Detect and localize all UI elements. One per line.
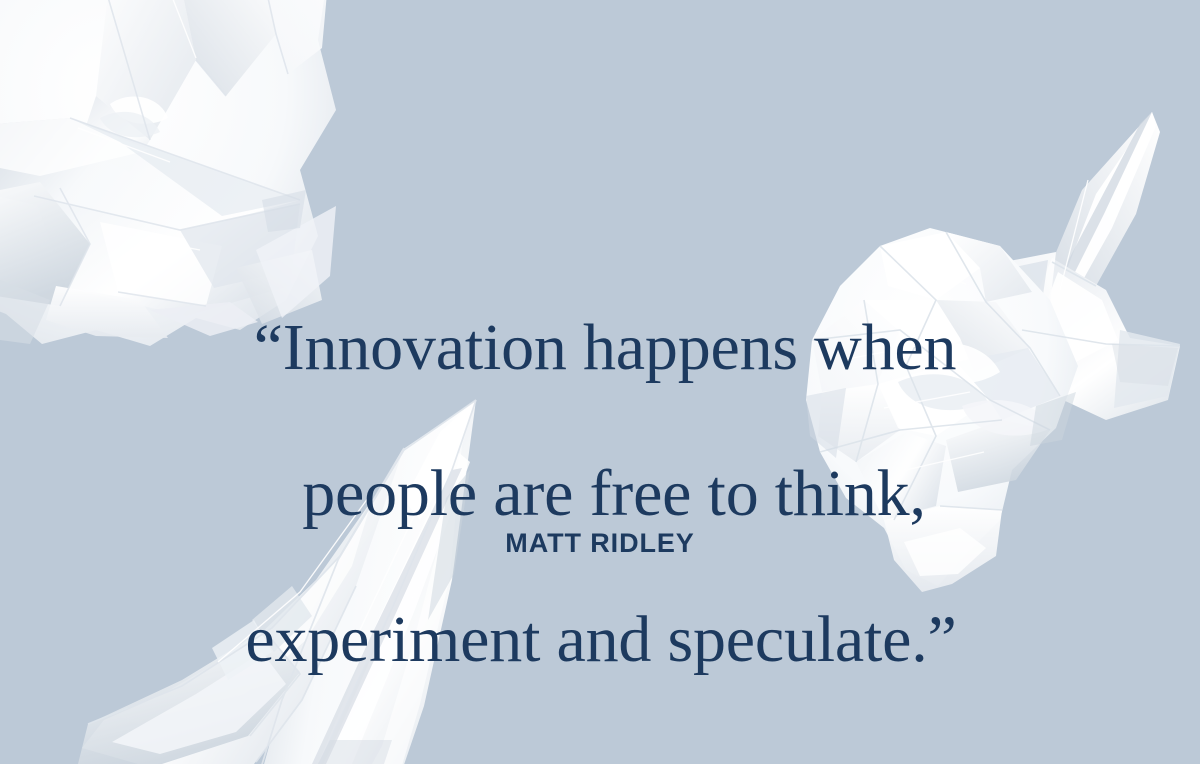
quote-attribution: MATT RIDLEY [0, 528, 1200, 559]
quote-card: “Innovation happens when people are free… [0, 0, 1200, 764]
quote-line-3: experiment and speculate.” [0, 603, 1200, 676]
quote-content: “Innovation happens when people are free… [0, 0, 1200, 764]
quote-line-1: “Innovation happens when [0, 311, 1200, 384]
quote-line-2: people are free to think, [0, 457, 1200, 530]
quote-text: “Innovation happens when people are free… [0, 238, 1200, 749]
